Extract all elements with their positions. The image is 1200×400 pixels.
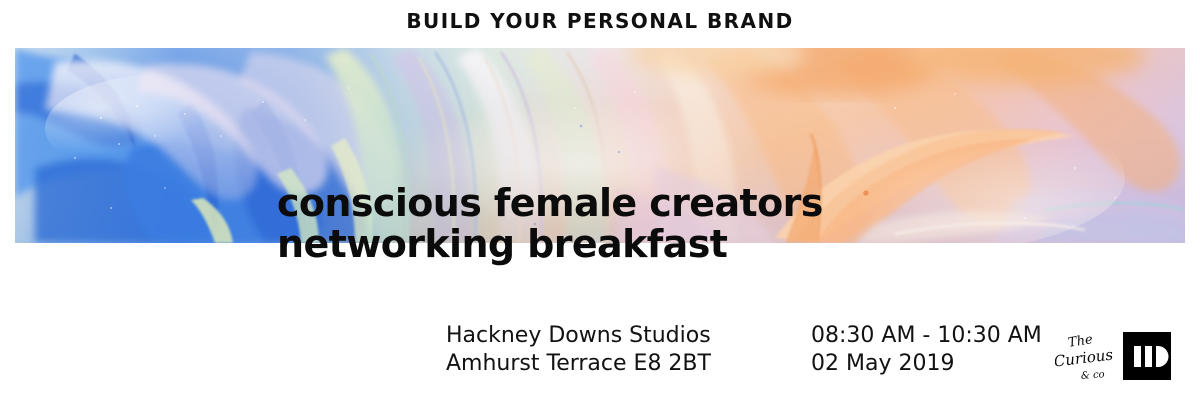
datetime-block: 08:30 AM - 10:30 AM 02 May 2019 <box>811 322 1042 378</box>
event-date: 02 May 2019 <box>811 350 1042 378</box>
page-title: BUILD YOUR PERSONAL BRAND <box>0 9 1200 33</box>
logo-script-andco: & co <box>1081 369 1105 382</box>
id-square-logo <box>1123 332 1171 380</box>
id-mark-icon <box>1123 332 1171 380</box>
event-poster: BUILD YOUR PERSONAL BRAND <box>0 0 1200 400</box>
the-curious-and-co-logo: The Curious & co <box>1055 328 1117 384</box>
logo-lockup: The Curious & co <box>1055 328 1185 384</box>
event-title-line-1: conscious female creators <box>277 183 823 224</box>
script-wordmark-icon: The Curious & co <box>1055 328 1117 384</box>
event-title: conscious female creators networking bre… <box>277 183 823 265</box>
event-title-line-2: networking breakfast <box>277 224 823 265</box>
venue-block: Hackney Downs Studios Amhurst Terrace E8… <box>446 322 711 378</box>
event-time: 08:30 AM - 10:30 AM <box>811 322 1042 350</box>
venue-name: Hackney Downs Studios <box>446 322 711 350</box>
logo-script-curious: Curious <box>1055 345 1114 370</box>
venue-address: Amhurst Terrace E8 2BT <box>446 350 711 378</box>
event-details: Hackney Downs Studios Amhurst Terrace E8… <box>0 322 1200 394</box>
